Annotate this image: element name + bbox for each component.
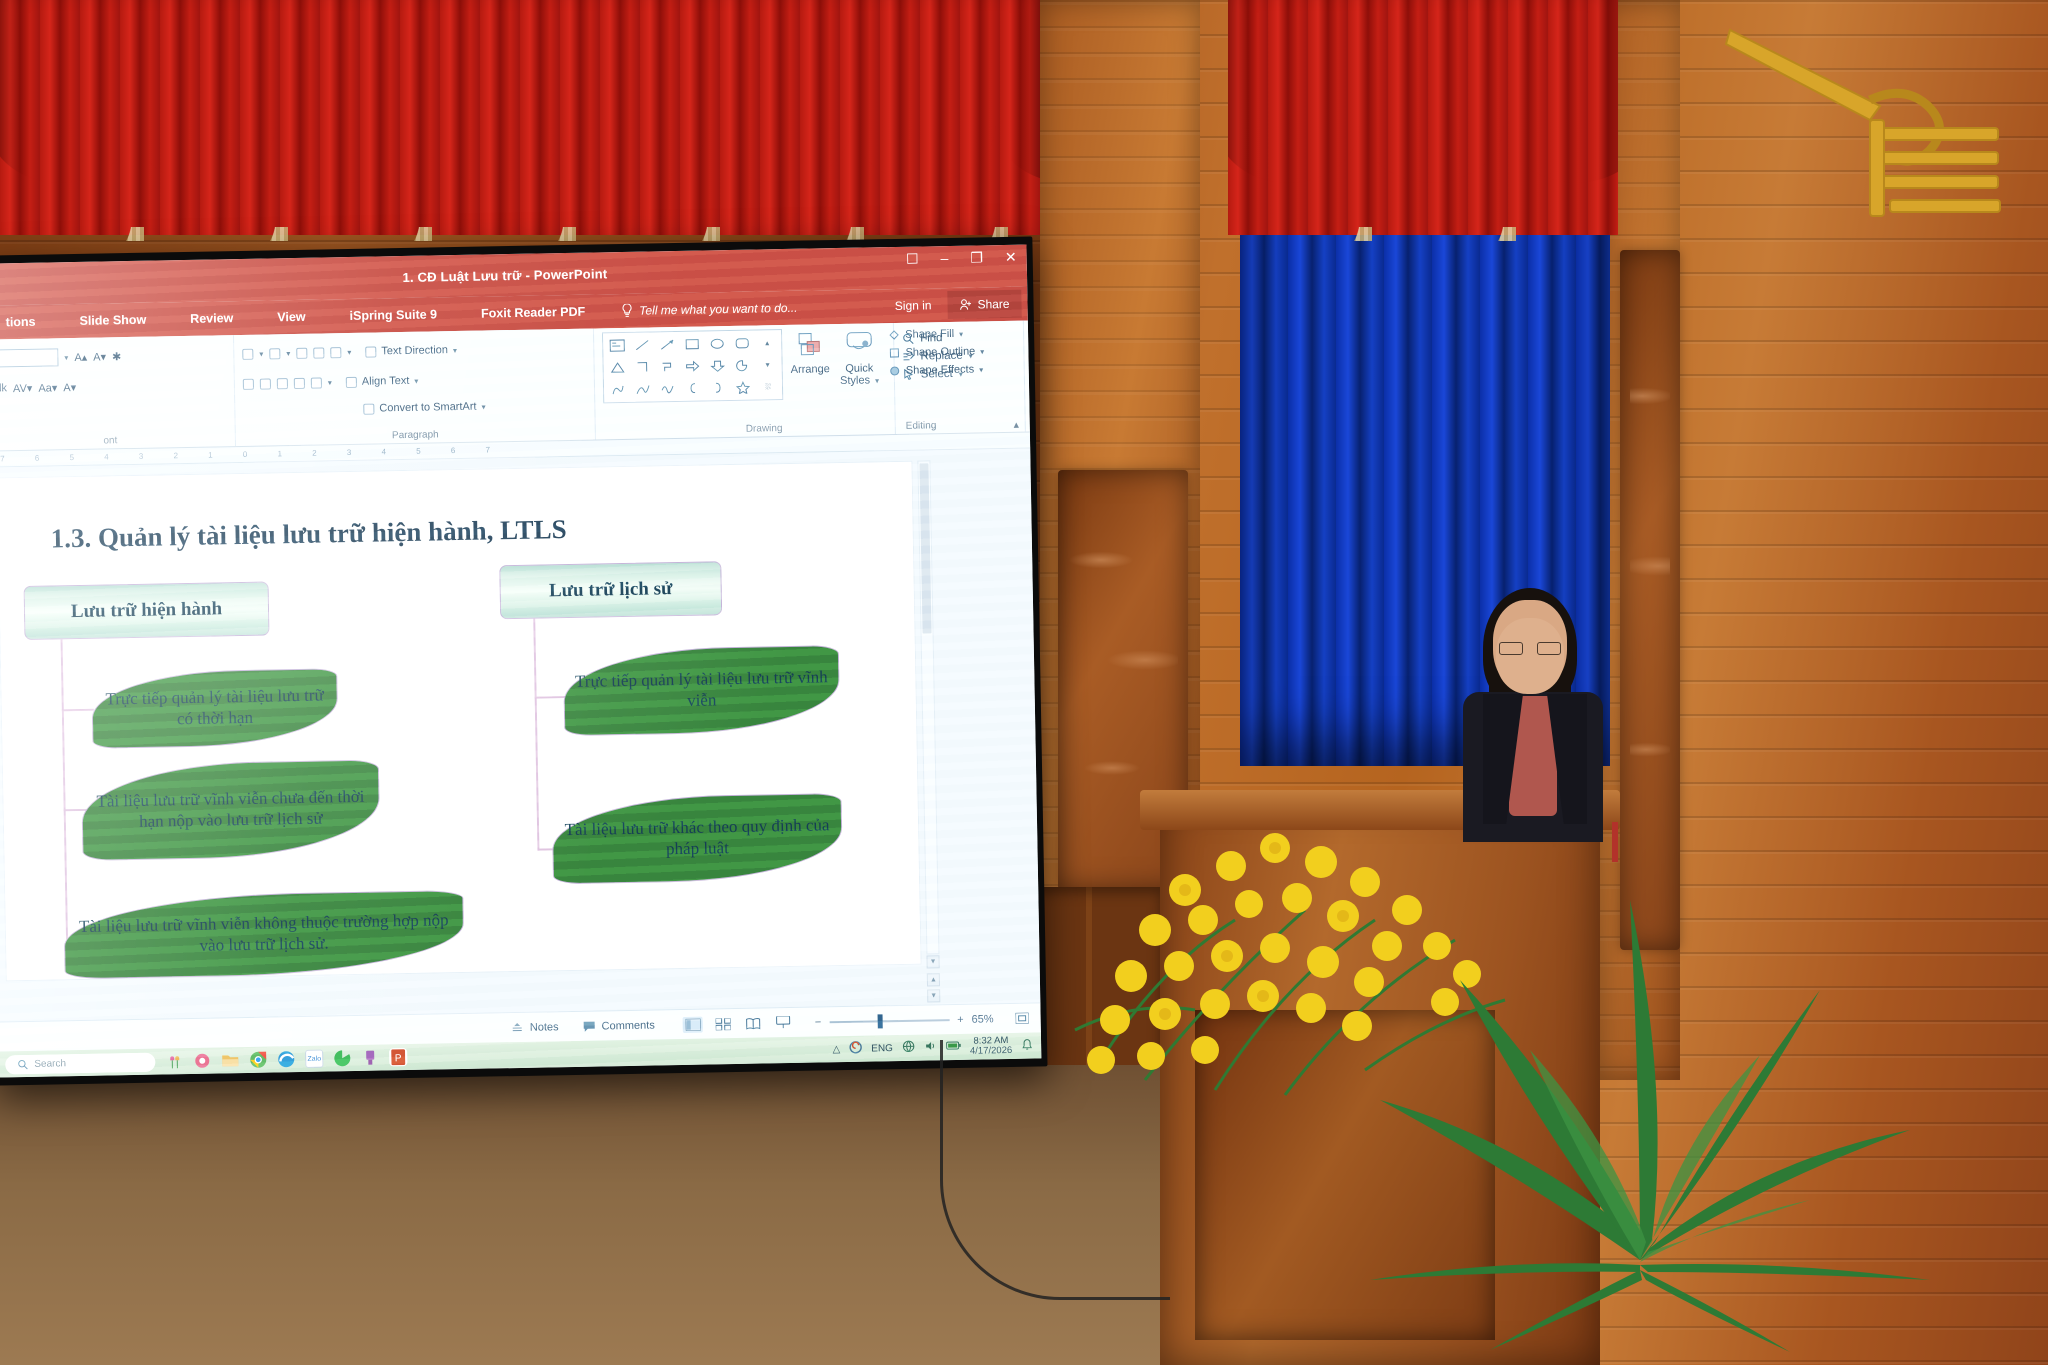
node-left-2[interactable]: Tài liệu lưu trữ vĩnh viễn chưa đến thời… xyxy=(81,760,381,861)
smartart-icon xyxy=(363,403,374,414)
conference-room: 1. CĐ Luật Lưu trữ - PowerPoint ☐ – ❐ ✕ … xyxy=(0,0,2048,1365)
shapes-more-icon[interactable]: ⛆ xyxy=(757,377,779,396)
restore-icon[interactable]: ❐ xyxy=(970,249,983,266)
ribbon-group-drawing[interactable]: ▴ ▾ xyxy=(594,323,896,439)
shape-textbox-icon[interactable] xyxy=(606,336,628,355)
shape-corner-icon[interactable] xyxy=(631,357,653,376)
quick-styles-button[interactable]: Quick Styles▾ xyxy=(839,329,879,387)
text-direction-label: Text Direction xyxy=(381,344,448,357)
taskbar-search[interactable]: Search xyxy=(5,1052,155,1074)
drawing-group-label: Drawing xyxy=(746,423,783,435)
shape-arrow-icon[interactable] xyxy=(656,335,678,354)
shape-right-brace-icon[interactable] xyxy=(707,378,729,397)
presenter-face xyxy=(1496,618,1564,694)
minimize-icon[interactable]: – xyxy=(940,250,948,267)
vertical-scrollbar[interactable] xyxy=(917,460,939,954)
quick-styles-label: Quick xyxy=(840,362,879,375)
replace-label: Replace xyxy=(920,350,962,363)
zoom-slider[interactable]: − + 65% xyxy=(805,1013,1004,1029)
connector-right-1 xyxy=(535,696,567,699)
shapes-scroll-up-icon[interactable]: ▴ xyxy=(756,333,778,352)
share-button[interactable]: Share xyxy=(947,290,1022,319)
zalo-icon[interactable]: Zalo xyxy=(305,1050,323,1068)
tab-review[interactable]: Review xyxy=(168,311,255,327)
view-normal-button[interactable] xyxy=(683,1016,703,1032)
shape-scribble-icon[interactable] xyxy=(657,379,679,398)
comments-button[interactable]: Comments xyxy=(570,1018,666,1033)
node-luu-tru-lich-su[interactable]: Lưu trữ lịch sử xyxy=(499,561,722,619)
editing-group-label: Editing xyxy=(896,419,1025,432)
arrange-button[interactable]: Arrange xyxy=(790,330,830,376)
scrollbar-thumb[interactable] xyxy=(919,463,931,633)
zoom-in-button[interactable]: + xyxy=(957,1013,964,1025)
powerpoint-window: 1. CĐ Luật Lưu trữ - PowerPoint ☐ – ❐ ✕ … xyxy=(0,245,1041,1078)
center-icon[interactable] xyxy=(260,378,271,389)
arrange-icon xyxy=(795,330,826,361)
projector-cable xyxy=(940,1040,1170,1300)
volume-icon[interactable] xyxy=(924,1039,937,1055)
shape-line-icon[interactable] xyxy=(631,335,653,354)
photos-icon[interactable] xyxy=(193,1052,211,1070)
ribbon-group-editing[interactable]: Find Replace▾ Select▾ Editing xyxy=(894,321,1026,434)
font-color-button[interactable]: A▾ xyxy=(63,380,76,393)
shape-arrow-down-icon[interactable] xyxy=(706,356,728,375)
show-hidden-icons[interactable]: △ xyxy=(832,1044,840,1055)
align-right-icon[interactable] xyxy=(277,378,288,389)
change-case-button[interactable]: Aa▾ xyxy=(38,381,57,394)
text-direction-icon xyxy=(365,346,376,357)
text-direction-button[interactable]: Text Direction▾ xyxy=(365,344,457,358)
language-indicator[interactable]: ENG xyxy=(871,1043,893,1054)
search-icon xyxy=(902,333,914,345)
shapes-scroll-down-icon[interactable]: ▾ xyxy=(756,355,778,374)
columns-icon[interactable] xyxy=(311,377,322,388)
align-text-icon xyxy=(346,376,357,387)
app-green-icon[interactable] xyxy=(333,1049,351,1067)
file-explorer-icon[interactable] xyxy=(221,1051,239,1069)
quick-label: Quick xyxy=(845,362,873,375)
align-text-button[interactable]: Align Text▾ xyxy=(346,375,419,388)
select-label: Select xyxy=(921,368,953,381)
shape-pie-icon[interactable] xyxy=(731,356,753,375)
slide-show-icon xyxy=(775,1016,790,1029)
svg-text:P: P xyxy=(395,1053,402,1064)
tab-slide-show[interactable]: Slide Show xyxy=(57,312,168,328)
powerpoint-icon[interactable]: P xyxy=(389,1048,407,1066)
shape-freeform-icon[interactable] xyxy=(632,379,654,398)
notes-button[interactable]: Notes xyxy=(499,1020,571,1034)
shapes-gallery[interactable]: ▴ ▾ xyxy=(602,329,783,403)
styles-label: Styles xyxy=(840,375,870,388)
slide-editing-area[interactable]: 1.3. Quản lý tài liệu lưu trữ hiện hành,… xyxy=(0,449,1040,1022)
fit-window-icon xyxy=(1016,1013,1029,1024)
chrome-icon[interactable] xyxy=(249,1051,267,1069)
presenter xyxy=(1455,600,1615,830)
potted-palm-plant xyxy=(1340,840,1940,1360)
view-slide-sorter-button[interactable] xyxy=(713,1016,733,1032)
increase-indent-icon[interactable] xyxy=(313,347,324,358)
increase-font-size-button[interactable]: A▴ xyxy=(74,350,87,363)
slide-canvas[interactable]: 1.3. Quản lý tài liệu lưu trữ hiện hành,… xyxy=(0,461,922,982)
notes-icon xyxy=(511,1021,524,1034)
notes-label: Notes xyxy=(530,1021,559,1034)
select-button[interactable]: Select▾ xyxy=(903,367,1016,381)
comment-icon xyxy=(582,1020,595,1033)
select-cursor-icon xyxy=(903,369,915,381)
view-reading-button[interactable] xyxy=(743,1015,763,1031)
close-icon[interactable]: ✕ xyxy=(1005,249,1017,266)
clear-formatting-icon[interactable]: ✱ xyxy=(112,350,121,363)
strikethrough-button[interactable]: alk xyxy=(0,382,7,394)
window-title: 1. CĐ Luật Lưu trữ - PowerPoint xyxy=(402,266,607,285)
node-left-3[interactable]: Tài liệu lưu trữ vĩnh viễn không thuộc t… xyxy=(63,890,464,979)
slide-title[interactable]: 1.3. Quản lý tài liệu lưu trữ hiện hành,… xyxy=(50,514,567,554)
shape-left-brace-icon[interactable] xyxy=(682,378,704,397)
character-spacing-button[interactable]: AV▾ xyxy=(13,381,33,394)
numbering-icon[interactable] xyxy=(269,348,280,359)
view-slide-show-button[interactable] xyxy=(773,1014,793,1030)
tab-ispring-suite-9[interactable]: iSpring Suite 9 xyxy=(327,307,459,323)
gold-wall-emblem xyxy=(1720,20,2020,250)
connector-left-1 xyxy=(62,709,94,712)
convert-to-smartart-label: Convert to SmartArt xyxy=(379,401,476,415)
red-curtain-left xyxy=(0,0,1040,235)
tell-me-label[interactable]: Tell me what you want to do... xyxy=(639,301,798,318)
edge-icon[interactable] xyxy=(277,1050,295,1068)
share-person-icon xyxy=(959,299,971,311)
tulips-icon[interactable] xyxy=(165,1052,183,1070)
convert-to-smartart-button[interactable]: Convert to SmartArt▾ xyxy=(363,400,485,414)
zoom-out-button[interactable]: − xyxy=(815,1016,822,1028)
replace-button[interactable]: Replace▾ xyxy=(902,349,1015,363)
decrease-font-size-button[interactable]: A▾ xyxy=(93,350,106,363)
zoom-level-label[interactable]: 65% xyxy=(971,1013,993,1025)
find-label: Find xyxy=(920,332,943,344)
collapse-ribbon-icon[interactable]: ▲ xyxy=(1012,420,1021,430)
antivirus-icon[interactable] xyxy=(849,1041,862,1057)
tell-me-search[interactable]: Tell me what you want to do... xyxy=(621,301,798,318)
shape-oval-icon[interactable] xyxy=(706,334,728,353)
shape-rounded-rect-icon[interactable] xyxy=(731,334,753,353)
shape-zigzag-icon[interactable] xyxy=(656,357,678,376)
find-button[interactable]: Find xyxy=(902,331,1015,345)
sign-in-link[interactable]: Sign in xyxy=(895,298,932,313)
arrange-label: Arrange xyxy=(791,363,830,376)
account-area[interactable]: Sign in Share xyxy=(895,287,1022,323)
connector-right-vertical xyxy=(533,619,539,851)
justify-icon[interactable] xyxy=(294,377,305,388)
red-curtain-right xyxy=(1228,0,1618,235)
paragraph-group-label: Paragraph xyxy=(236,426,595,444)
shape-curve-icon[interactable] xyxy=(607,380,629,399)
ribbon-group-paragraph[interactable]: ▾ ▾ ▾ Text Direction▾ xyxy=(234,328,596,446)
tab-transitions[interactable]: tions xyxy=(0,314,58,329)
node-right-1[interactable]: Trực tiếp quản lý tài liệu lưu trữ vĩnh … xyxy=(563,645,841,736)
quick-styles-icon xyxy=(843,329,876,360)
next-slide-button[interactable]: ▼ xyxy=(927,989,940,1002)
node-luu-tru-hien-hanh[interactable]: Lưu trữ hiện hành xyxy=(24,582,270,640)
share-label[interactable]: Share xyxy=(977,297,1009,312)
zoom-track[interactable] xyxy=(829,1019,949,1023)
shape-rectangle-icon[interactable] xyxy=(681,334,703,353)
eyeglasses-icon xyxy=(1499,642,1561,655)
reading-view-icon xyxy=(745,1017,760,1029)
tab-view[interactable]: View xyxy=(255,309,328,324)
node-left-1[interactable]: Trực tiếp quản lý tài liệu lưu trữ có th… xyxy=(91,668,338,748)
connector-left-vertical xyxy=(61,639,68,939)
ribbon-group-font[interactable]: ▾ A▴ A▾ ✱ alk AV▾ Aa▾ A▾ ont xyxy=(0,335,236,451)
align-left-icon[interactable] xyxy=(243,378,254,389)
previous-slide-button[interactable]: ▲ xyxy=(927,973,940,986)
slide-sorter-icon xyxy=(715,1018,730,1030)
search-icon xyxy=(17,1058,28,1069)
font-size-box[interactable] xyxy=(0,348,59,367)
decrease-indent-icon[interactable] xyxy=(296,347,307,358)
shape-arrow-right-icon[interactable] xyxy=(681,356,703,375)
font-group-label: ont xyxy=(0,433,235,449)
bullets-icon[interactable] xyxy=(242,348,253,359)
lightbulb-icon xyxy=(621,304,632,318)
projection-screen-frame: 1. CĐ Luật Lưu trữ - PowerPoint ☐ – ❐ ✕ … xyxy=(0,236,1048,1085)
search-placeholder: Search xyxy=(34,1058,66,1070)
zoom-knob[interactable] xyxy=(877,1014,882,1028)
ribbon-toolbar[interactable]: ▾ A▴ A▾ ✱ alk AV▾ Aa▾ A▾ ont xyxy=(0,321,1030,452)
shape-triangle-icon[interactable] xyxy=(606,358,628,377)
projection-screen: 1. CĐ Luật Lưu trữ - PowerPoint ☐ – ❐ ✕ … xyxy=(0,245,1041,1078)
ribbon-display-options-icon[interactable]: ☐ xyxy=(906,251,919,268)
usb-app-icon[interactable] xyxy=(361,1049,379,1067)
align-text-label: Align Text xyxy=(362,375,410,388)
network-icon[interactable] xyxy=(902,1040,915,1056)
window-controls[interactable]: ☐ – ❐ ✕ xyxy=(906,249,1017,268)
normal-view-icon xyxy=(685,1018,700,1030)
scroll-down-arrow[interactable]: ▼ xyxy=(926,955,939,968)
replace-icon xyxy=(902,351,914,363)
shape-star-icon[interactable] xyxy=(732,378,754,397)
line-spacing-icon[interactable] xyxy=(330,347,341,358)
comments-label: Comments xyxy=(601,1019,654,1032)
font-size-caret-icon[interactable]: ▾ xyxy=(64,353,68,362)
tab-foxit-reader-pdf[interactable]: Foxit Reader PDF xyxy=(459,304,607,321)
node-right-2[interactable]: Tài liệu lưu trữ khác theo quy định của … xyxy=(552,793,844,884)
